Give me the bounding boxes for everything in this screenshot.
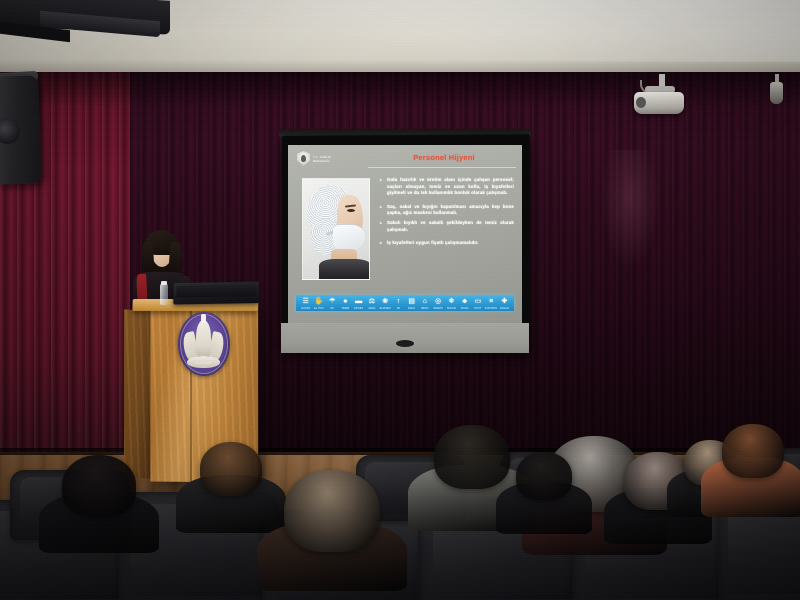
- footer-icon-caption: HİJYEN: [299, 307, 312, 310]
- footer-icon-caption: NAKİL: [405, 307, 418, 310]
- list-icon: ≡: [487, 296, 496, 307]
- audience-area: [0, 400, 800, 600]
- presentation-slide: T.C. SAĞLIK BAKANLIĞI Personel Hijyeni: [288, 145, 522, 323]
- footer-icon-caption: ELDİVEN: [379, 307, 392, 310]
- footer-icon-cell: ◎SERVİS: [432, 296, 445, 310]
- lectern-laptop: [173, 281, 259, 304]
- droplet-icon: ●: [341, 296, 350, 307]
- footer-icon-cell: ⚖ARAÇ: [365, 296, 378, 310]
- footer-icon-cell: ✋EL YIKA: [312, 296, 325, 310]
- curtain-pleat-highlight: [600, 150, 660, 270]
- ceiling-spotlight: [770, 82, 783, 104]
- slide-title-divider: [368, 167, 516, 168]
- footer-icon-caption: SERVİS: [432, 307, 445, 310]
- water-bottle: [160, 283, 168, 305]
- slide-title: Personel Hijyeni: [374, 153, 514, 162]
- surgical-mask-icon: [333, 224, 365, 251]
- projection-screen-surface: T.C. SAĞLIK BAKANLIĞI Personel Hijyeni: [288, 145, 522, 323]
- auditorium-scene: T.C. SAĞLIK BAKANLIĞI Personel Hijyeni: [0, 0, 800, 600]
- slide-logo-line1: T.C. SAĞLIK: [313, 155, 331, 159]
- footer-icon-caption: SU: [326, 307, 339, 310]
- footer-icon-caption: ETİKET: [352, 307, 365, 310]
- tree-icon: ♣: [460, 296, 469, 307]
- attendee-dark-hair-jacket: [434, 425, 510, 489]
- footer-icon-cell: ●TEMİZ: [339, 296, 352, 310]
- bag-icon: ⌂: [420, 296, 429, 307]
- photo-eye: [347, 209, 355, 212]
- truck-icon: ▤: [407, 296, 416, 307]
- emblem-caption: HASTANESİ: [178, 362, 230, 365]
- label-icon: ▬: [354, 296, 363, 307]
- footer-icon-cell: ☂SU: [326, 296, 339, 310]
- slide-bullet: Gıda hazırlık ve üretim alanı içinde çal…: [380, 177, 514, 197]
- projector-lens-icon: [636, 97, 646, 108]
- footer-icon-cell: ▭KAYIT: [471, 296, 484, 310]
- slide-footer-icon-bar: ☰HİJYEN✋EL YIKA☂SU●TEMİZ▬ETİKET⚖ARAÇ❀ELD…: [296, 295, 514, 311]
- plus-icon: ✚: [500, 296, 509, 307]
- footer-icon-cell: ▤NAKİL: [405, 296, 418, 310]
- footer-icon-cell: ☰HİJYEN: [299, 296, 312, 310]
- footer-icon-cell: ❀ELDİVEN: [379, 296, 392, 310]
- projection-screen-lower-blank: [281, 323, 529, 353]
- photo-collar: [319, 259, 370, 280]
- attendee-brown-hair-left: [200, 442, 262, 496]
- footer-icon-cell: ↑ISI: [392, 296, 405, 310]
- slide-logo-line2: BAKANLIĞI: [313, 159, 331, 163]
- bullet-group-3: İş kıyafetleri uygun fiyatlı çalışmamalı…: [380, 240, 514, 247]
- footer-icon-caption: KAYIT: [471, 307, 484, 310]
- bullet-group-2: Saç, sakal ve bıyığın kapatılması amacıy…: [380, 204, 514, 233]
- doc-icon: ▭: [473, 296, 482, 307]
- footer-icon-caption: EL YIKA: [312, 307, 325, 310]
- person-with-hairnet-and-mask-photo: [302, 178, 370, 280]
- snowflake-icon: ❄: [447, 296, 456, 307]
- slide-bullet: İş kıyafetleri uygun fiyatlı çalışmamalı…: [380, 240, 514, 247]
- hand-wash-icon: ✋: [314, 296, 323, 307]
- footer-icon-caption: DOĞA: [458, 307, 471, 310]
- slide-organization-logo: T.C. SAĞLIK BAKANLIĞI: [297, 151, 331, 166]
- slide-bullet-list: Gıda hazırlık ve üretim alanı içinde çal…: [380, 177, 514, 254]
- emblem-tower-icon: [196, 320, 211, 356]
- footer-icon-caption: SAĞLIK: [498, 307, 511, 310]
- footer-icon-cell: ≡KONTROL: [485, 296, 498, 310]
- gloves-icon: ❀: [381, 296, 390, 307]
- footer-icon-cell: ▬ETİKET: [352, 296, 365, 310]
- ministry-of-health-crest-icon: [297, 151, 310, 166]
- footer-icon-cell: ⌂DEPO: [418, 296, 431, 310]
- footer-icon-cell: ♣DOĞA: [458, 296, 471, 310]
- bullet-group-1: Gıda hazırlık ve üretim alanı içinde çal…: [380, 177, 514, 197]
- screen-bottom-weight: [396, 340, 414, 347]
- footer-icon-caption: TEMİZ: [339, 307, 352, 310]
- attendee-short-hair-center: [284, 470, 380, 552]
- slide-logo-text: T.C. SAĞLIK BAKANLIĞI: [313, 155, 331, 163]
- institution-crest-emblem: HASTANESİ: [178, 312, 230, 376]
- footer-icon-cell: ✚SAĞLIK: [498, 296, 511, 310]
- attendee-dark-headscarf: [62, 455, 136, 517]
- footer-icon-caption: KONTROL: [485, 307, 498, 310]
- attendee-black-cap: [516, 452, 572, 500]
- footer-icon-caption: DEPO: [418, 307, 431, 310]
- knife-icon: ⚖: [367, 296, 376, 307]
- text-label-icon: ☰: [301, 296, 310, 307]
- plate-icon: ◎: [434, 296, 443, 307]
- water-drop-icon: ☂: [328, 296, 337, 307]
- slide-bullet: Sakalı bıyıklı ve sakallı şekildeyken de…: [380, 220, 514, 233]
- footer-icon-cell: ❄SOĞUK: [445, 296, 458, 310]
- footer-icon-caption: ARAÇ: [365, 307, 378, 310]
- footer-icon-caption: SOĞUK: [445, 307, 458, 310]
- slide-bullet: Saç, sakal ve bıyığın kapatılması amacıy…: [380, 204, 514, 217]
- thermometer-icon: ↑: [394, 296, 403, 307]
- attendee-auburn-hair: [722, 424, 784, 478]
- laptop-screen: [176, 284, 256, 297]
- footer-icon-caption: ISI: [392, 307, 405, 310]
